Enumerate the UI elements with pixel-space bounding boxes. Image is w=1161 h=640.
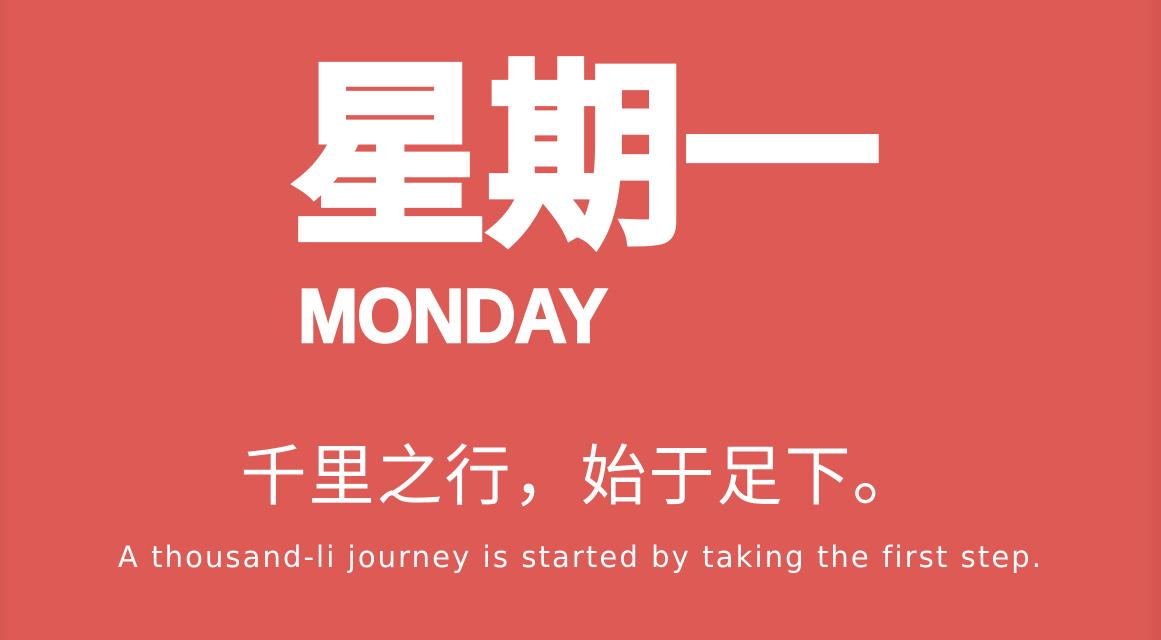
proverb-chinese: 千里之行，始于足下。 — [0, 437, 1161, 517]
poster-content: 星期一 MONDAY 千里之行，始于足下。 A thousand-li jour… — [0, 0, 1161, 640]
day-name-chinese: 星期一 — [292, 60, 880, 256]
proverb-english: A thousand-li journey is started by taki… — [0, 538, 1161, 576]
day-name-english: MONDAY — [298, 279, 607, 355]
daily-quote-poster: 星期一 MONDAY 千里之行，始于足下。 A thousand-li jour… — [0, 0, 1161, 640]
